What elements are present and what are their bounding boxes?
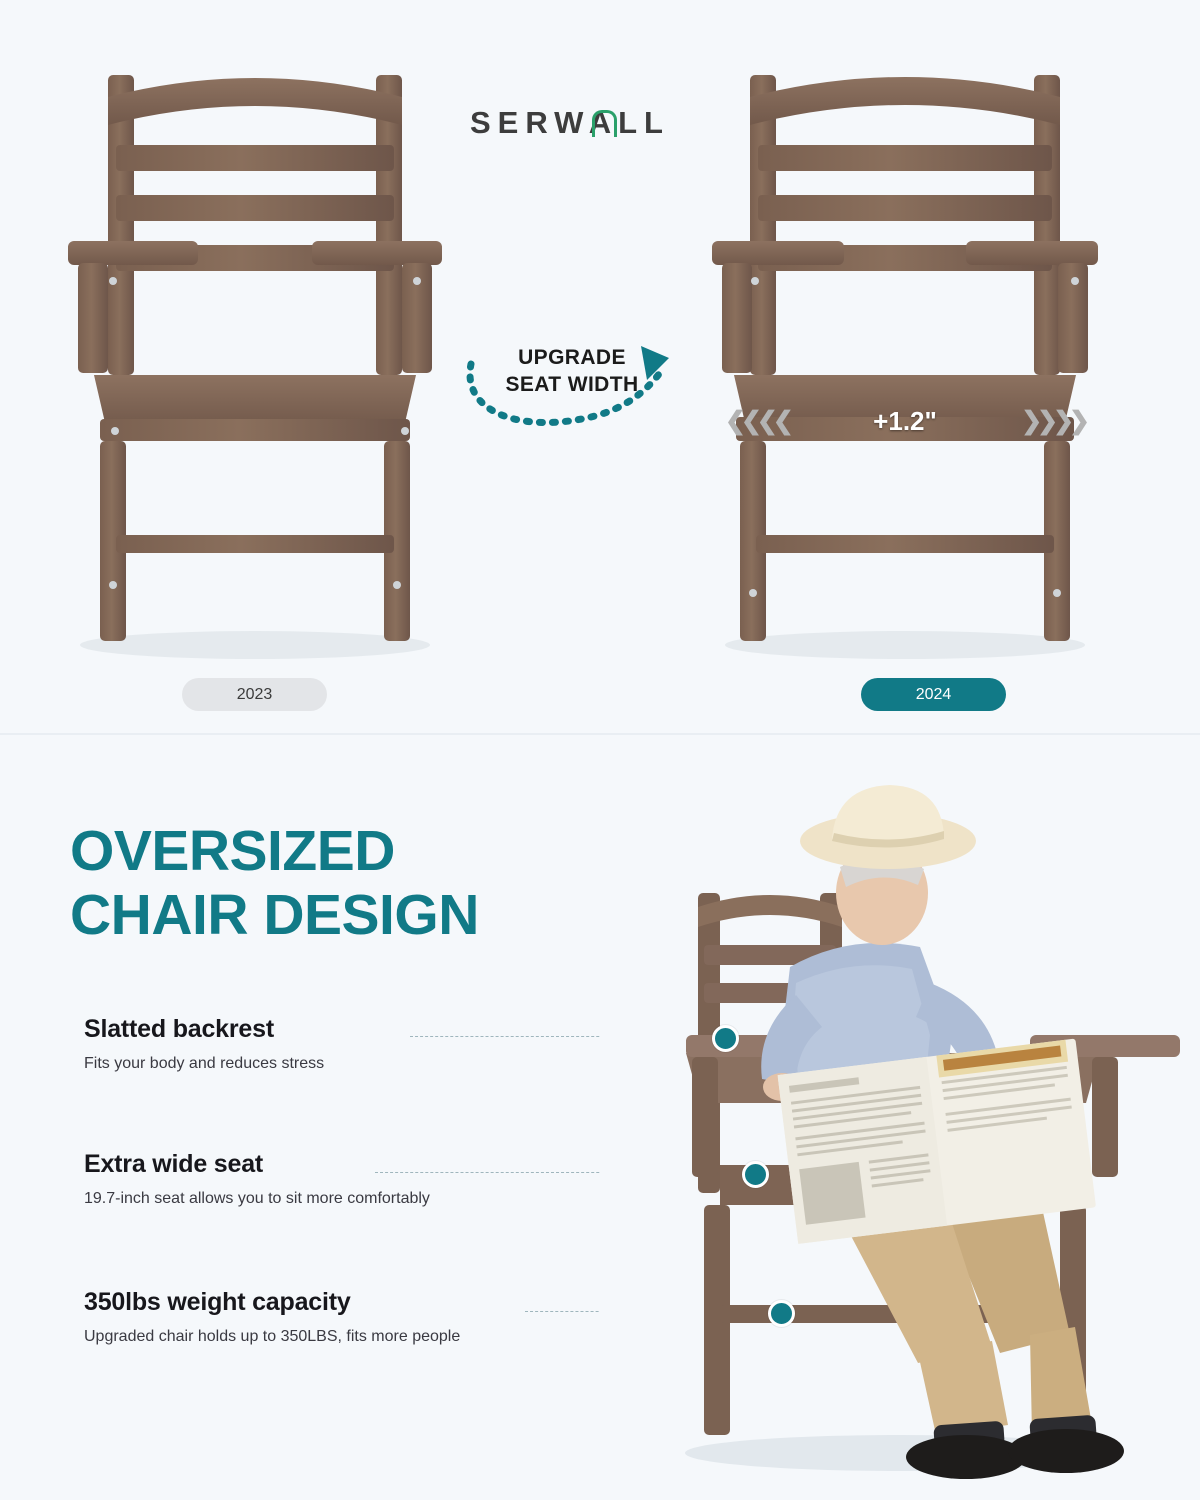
headline-line-2: CHAIR DESIGN [70,883,479,947]
brand-logo: SERWALL [470,105,690,151]
product-infographic: SERWALL [0,0,1200,1500]
seat-width-value: +1.2" [873,406,937,437]
man-reading-newspaper-on-chair-photo [600,735,1200,1500]
feature-title: 350lbs weight capacity [84,1288,554,1317]
hotspot-dot-icon [742,1161,769,1188]
seat-width-band: ❮❮❮❮ +1.2" ❯❯❯❯ [725,403,1085,439]
headline-line-1: OVERSIZED [70,819,395,883]
feature-desc: 19.7-inch seat allows you to sit more co… [84,1188,554,1210]
band-right-arrows-icon: ❯❯❯❯ [1021,406,1085,436]
feature-extra-wide-seat: Extra wide seat 19.7-inch seat allows yo… [84,1150,554,1210]
feature-title: Slatted backrest [84,1015,554,1044]
outdoor-chair-2023-icon [60,45,450,665]
hotspot-dot-icon [712,1025,739,1052]
year-label-2024: 2024 [861,678,1006,711]
feature-weight-capacity: 350lbs weight capacity Upgraded chair ho… [84,1288,554,1348]
page-title: OVERSIZED CHAIR DESIGN [70,820,630,948]
hotspot-dot-icon [768,1300,795,1327]
year-label-2023: 2023 [182,678,327,711]
brand-name: SERWALL [470,105,690,141]
feature-desc: Upgraded chair holds up to 350LBS, fits … [84,1326,554,1348]
feature-desc: Fits your body and reduces stress [84,1053,554,1075]
band-left-arrows-icon: ❮❮❮❮ [725,406,789,436]
outdoor-chair-2024-icon [710,45,1100,665]
arch-letter-a-icon [592,110,617,137]
feature-title: Extra wide seat [84,1150,554,1179]
top-comparison-panel: SERWALL [0,0,1200,735]
feature-slatted-backrest: Slatted backrest Fits your body and redu… [84,1015,554,1075]
dashed-curved-arrow-icon [455,330,685,445]
